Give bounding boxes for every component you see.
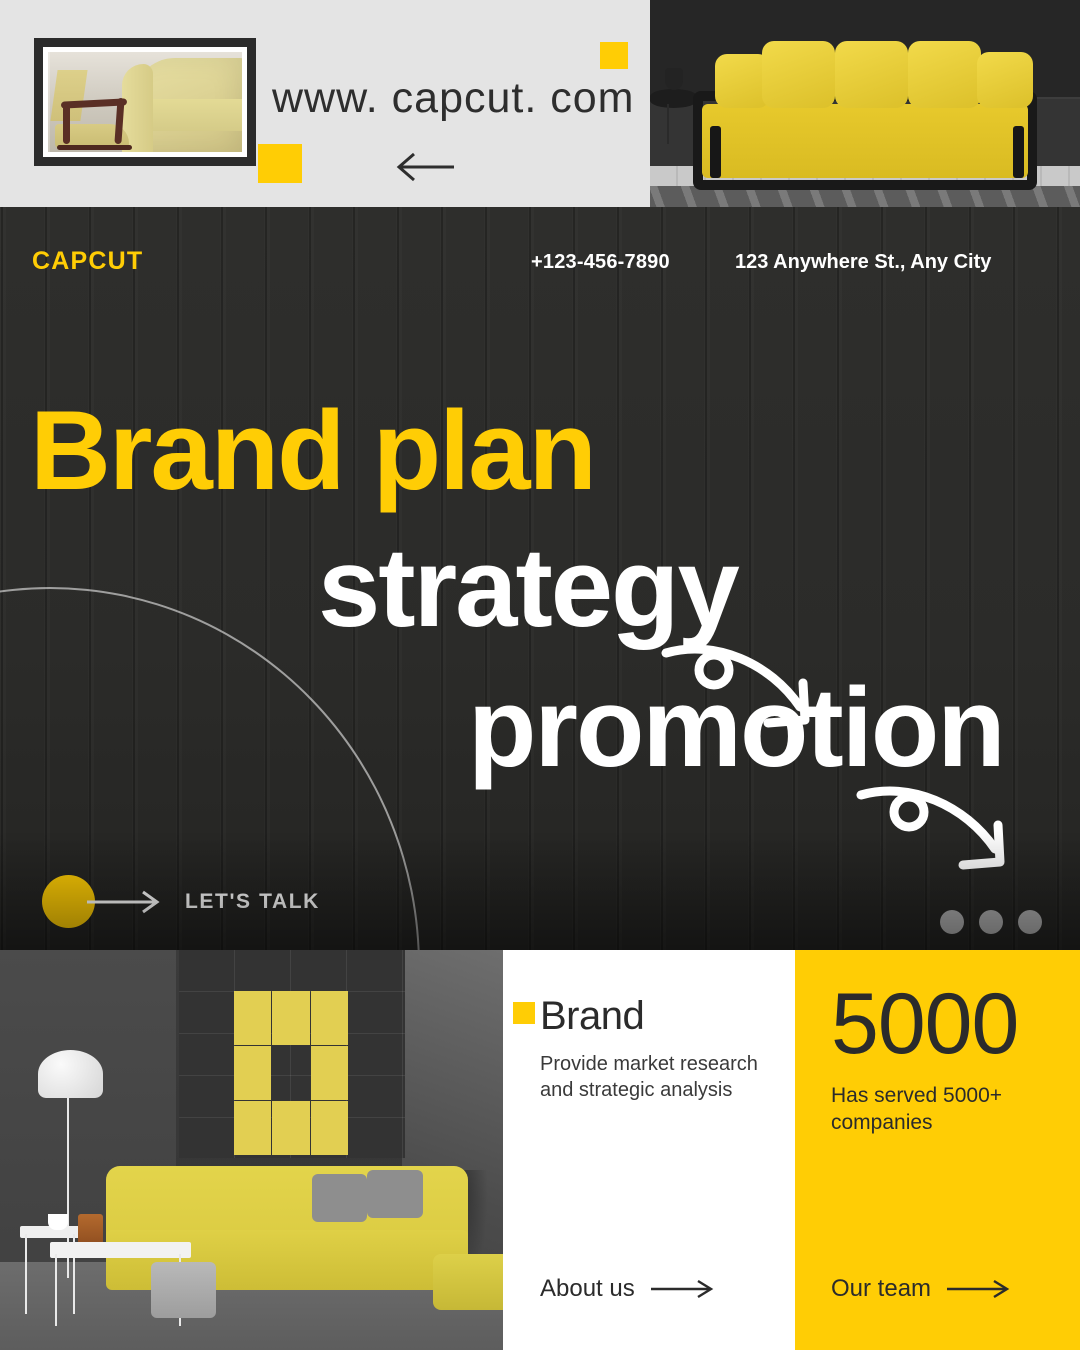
brand-card: Brand Provide market research and strate… [503, 950, 795, 1350]
arrow-right-icon [651, 1279, 717, 1299]
hero-bottom-shadow [0, 830, 1080, 950]
brand-card-description: Provide market research and strategic an… [540, 1051, 769, 1104]
photo-art-tile [311, 991, 348, 1045]
yellow-square-accent-upper [600, 42, 628, 69]
photo-cushion [312, 1174, 367, 1222]
arrow-right-icon [947, 1279, 1013, 1299]
photo-chair [52, 70, 141, 152]
photo-grey-pouf [151, 1262, 216, 1318]
photo-coffee-cup [48, 1214, 68, 1230]
framed-photo [34, 38, 256, 166]
about-us-link[interactable]: About us [540, 1275, 717, 1303]
curved-arrow-down-right-icon [660, 625, 840, 735]
yellow-square-accent [513, 1002, 535, 1024]
photo-art-tile [234, 1101, 271, 1155]
armchair-sofa-photo [48, 52, 242, 152]
stat-description: Has served 5000+ companies [831, 1082, 1060, 1137]
photo-art-tile [272, 1101, 309, 1155]
website-url[interactable]: www. capcut. com [272, 74, 635, 123]
frame-mat [43, 47, 247, 157]
photo-side-table [650, 89, 697, 108]
yellow-square-accent-lower [258, 144, 302, 183]
photo-wall-art-panel [179, 950, 405, 1158]
arrow-left-icon[interactable] [394, 152, 456, 182]
bottom-strip: Brand Provide market research and strate… [0, 950, 1080, 1350]
photo-art-tile [311, 1046, 348, 1100]
top-band: www. capcut. com [0, 0, 1080, 207]
stat-card: 5000 Has served 5000+ companies Our team [795, 950, 1080, 1350]
photo-sofa-leg [1013, 126, 1024, 178]
brand-logo[interactable]: CAPCUT [32, 247, 143, 276]
photo-art-tile [272, 991, 309, 1045]
headline-line-1: Brand plan [30, 395, 595, 507]
photo-chair-base [57, 145, 132, 151]
photo-yellow-ottoman [433, 1254, 503, 1310]
contact-address[interactable]: 123 Anywhere St., Any City [735, 251, 991, 274]
photo-cushion [367, 1170, 422, 1218]
photo-art-tile [311, 1101, 348, 1155]
hero-section: CAPCUT +123-456-7890 123 Anywhere St., A… [0, 207, 1080, 950]
photo-art-tile [234, 991, 271, 1045]
photo-pillow [977, 52, 1033, 108]
photo-chair-leg-left [63, 103, 70, 144]
photo-vase [665, 68, 683, 90]
brand-card-title: Brand [540, 994, 769, 1039]
our-team-label: Our team [831, 1275, 931, 1303]
photo-side-table-leg [667, 104, 669, 144]
photo-floor-lamp-shade [38, 1050, 103, 1098]
photo-pillow [762, 41, 835, 107]
photo-sofa-leg [710, 126, 721, 178]
about-us-label: About us [540, 1275, 635, 1303]
photo-art-tile [234, 1046, 271, 1100]
living-room-interior-photo [0, 950, 503, 1350]
yellow-sofa-dark-room-photo [650, 0, 1080, 207]
photo-pillow [835, 41, 908, 107]
stat-number: 5000 [831, 984, 1060, 1066]
our-team-link[interactable]: Our team [831, 1275, 1013, 1303]
photo-pillow [908, 41, 981, 107]
photo-sofa-seat [702, 104, 1029, 179]
contact-phone[interactable]: +123-456-7890 [531, 251, 670, 274]
